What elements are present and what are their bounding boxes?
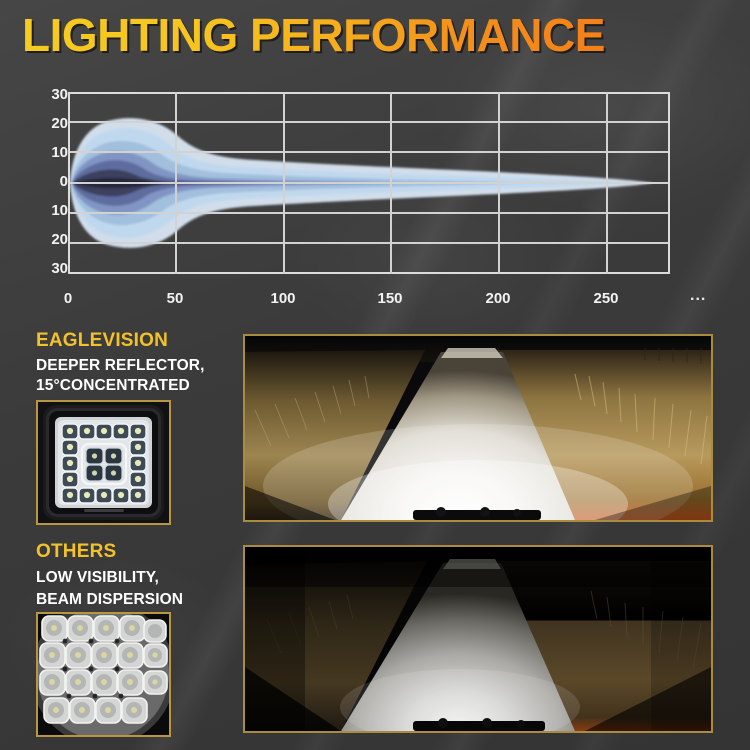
gridline-y-30-top	[68, 92, 670, 94]
gridline-x-200	[498, 92, 500, 274]
gridline-y-10-bottom	[68, 212, 670, 214]
square-led-work-light-icon	[38, 402, 169, 523]
page-title: LIGHTING PERFORMANCE	[0, 6, 750, 64]
night-road-dim-photo	[245, 547, 711, 731]
gridline-y-20-bottom	[68, 242, 670, 244]
gridline-y-30-bottom	[68, 272, 670, 274]
eaglevision-subtitle-line1: DEEPER REFLECTOR,	[36, 356, 205, 376]
x-axis-tick-0: 0	[46, 290, 90, 307]
title-bar: LIGHTING PERFORMANCE	[0, 6, 750, 64]
eaglevision-beam-photo	[243, 334, 713, 522]
others-product-image	[36, 612, 171, 737]
y-axis-tick-20-top: 20	[28, 115, 68, 132]
gridline-x-50	[175, 92, 177, 274]
y-axis-tick-30-top: 30	[28, 86, 68, 103]
gridline-y-20-top	[68, 121, 670, 123]
y-axis-tick-20-bottom: 20	[28, 231, 68, 248]
gridline-y-10-top	[68, 151, 670, 153]
gridline-x-150	[390, 92, 392, 274]
eaglevision-product-image	[36, 400, 171, 525]
others-subtitle-line2: BEAM DISPERSION	[36, 590, 183, 610]
eaglevision-heading: EAGLEVISION	[36, 330, 168, 352]
x-axis-overflow-marker: ...	[690, 287, 706, 305]
chart-plot-area	[68, 92, 670, 274]
night-road-bright-photo	[245, 336, 711, 520]
y-axis-tick-10-bottom: 10	[28, 202, 68, 219]
gridline-x-right-edge	[668, 92, 670, 274]
gridline-x-0	[68, 92, 70, 274]
x-axis-tick-150: 150	[368, 290, 412, 307]
x-axis-tick-250: 250	[584, 290, 628, 307]
y-axis-tick-10-top: 10	[28, 144, 68, 161]
others-heading: OTHERS	[36, 541, 116, 563]
beam-pattern-chart: 30 20 10 0 10 20 30 0 50 100 150 200 250…	[0, 78, 750, 318]
others-beam-photo	[243, 545, 713, 733]
eaglevision-subtitle-line2: 15°CONCENTRATED	[36, 376, 190, 396]
shallow-reflector-led-array-icon	[38, 614, 169, 735]
y-axis-tick-30-bottom: 30	[28, 260, 68, 277]
gridline-y-0	[68, 182, 670, 184]
x-axis-tick-100: 100	[261, 290, 305, 307]
y-axis-tick-0: 0	[28, 173, 68, 190]
others-subtitle-line1: LOW VISIBILITY,	[36, 568, 159, 588]
x-axis-tick-50: 50	[153, 290, 197, 307]
x-axis-tick-200: 200	[476, 290, 520, 307]
gridline-x-100	[283, 92, 285, 274]
gridline-x-250	[606, 92, 608, 274]
